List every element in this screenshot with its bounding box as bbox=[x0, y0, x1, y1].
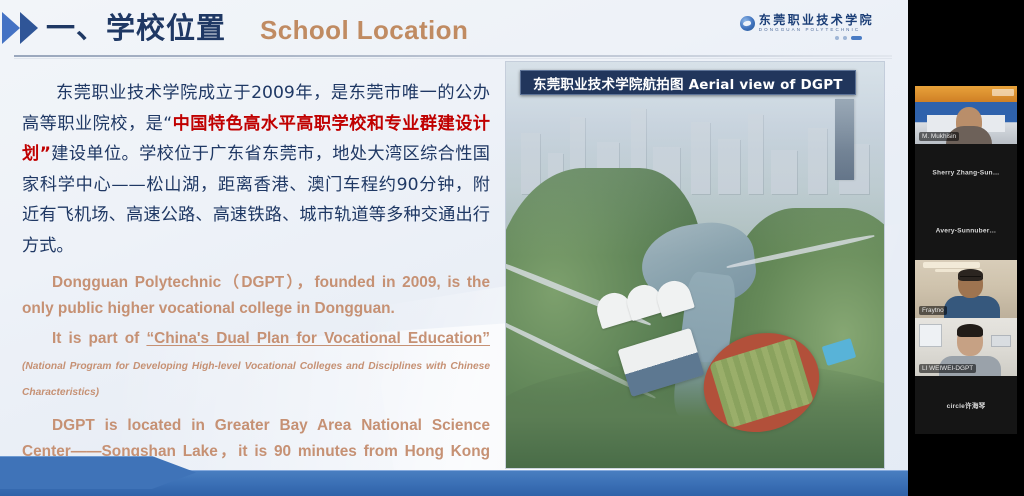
participant-3-scene-light-1 bbox=[923, 262, 980, 267]
slide-header: 一、学校位置 School Location 东莞职业技术学院 DONGGUAN… bbox=[0, 0, 908, 57]
participant-tile-4[interactable]: LI WEIWEI-DGPT bbox=[915, 318, 1017, 376]
page-title-english: School Location bbox=[260, 13, 468, 47]
participant-4-scene-board bbox=[919, 324, 941, 347]
cn-text-part2: 建设单位。学校位于广东省东莞市，地处大湾区综合性国家科学中心——松山湖，距离香港… bbox=[22, 144, 490, 256]
participant-tile-2[interactable]: Avery-Sunnuber… bbox=[915, 202, 1017, 260]
participant-0-scene-logo bbox=[992, 89, 1014, 96]
en-program-note: (National Program for Developing High-le… bbox=[22, 361, 490, 398]
participant-0-name: M. Mukhisin bbox=[919, 132, 959, 141]
en-program-link: “China's Dual Plan for Vocational Educat… bbox=[146, 330, 490, 347]
screen: 一、学校位置 School Location 东莞职业技术学院 DONGGUAN… bbox=[0, 0, 1024, 496]
participant-4-scene-board-2 bbox=[991, 335, 1011, 347]
participant-3-avatar-body bbox=[944, 296, 1000, 318]
participant-1-name: Sherry Zhang-Sun… bbox=[915, 170, 1017, 177]
participant-4-avatar-hair bbox=[957, 324, 983, 337]
participant-tile-strip[interactable]: M. Mukhisin Sherry Zhang-Sun… Avery-Sunn… bbox=[915, 86, 1017, 434]
header-divider bbox=[14, 55, 892, 57]
photo-high-rise-tower bbox=[835, 99, 854, 180]
photo-sports-field bbox=[709, 337, 814, 428]
participant-tile-0[interactable]: M. Mukhisin bbox=[915, 86, 1017, 144]
en-text-pre: It is part of bbox=[52, 330, 146, 347]
participant-5-name: circle许海琴 bbox=[915, 400, 1017, 410]
paragraph-chinese: 东莞职业技术学院成立于2009年，是东莞市唯一的公办高等职业院校，是“中国特色高… bbox=[22, 78, 490, 261]
participant-2-name: Avery-Sunnuber… bbox=[915, 228, 1017, 235]
presentation-slide: 一、学校位置 School Location 东莞职业技术学院 DONGGUAN… bbox=[0, 0, 908, 496]
logo-name-chinese: 东莞职业技术学院 bbox=[759, 14, 874, 26]
paragraph-english-1: Dongguan Polytechnic（DGPT），founded in 20… bbox=[22, 270, 490, 322]
paragraph-english-2: It is part of “China's Dual Plan for Voc… bbox=[22, 326, 490, 404]
logo-dots-decoration bbox=[835, 36, 862, 40]
participant-tile-1[interactable]: Sherry Zhang-Sun… bbox=[915, 144, 1017, 202]
page-title-chinese: 一、学校位置 bbox=[46, 8, 226, 48]
participant-tile-3[interactable]: Fraytno bbox=[915, 260, 1017, 318]
cn-quote-open: “ bbox=[163, 114, 172, 134]
header-divider-thin bbox=[14, 58, 892, 59]
photo-caption-banner: 东莞职业技术学院航拍图 Aerial view of DGPT bbox=[520, 70, 856, 95]
photo-trees-bottom bbox=[506, 362, 884, 468]
logo-name-english: DONGGUAN POLYTECHNIC bbox=[759, 28, 874, 33]
logo-emblem-icon bbox=[740, 16, 755, 31]
aerial-campus-photo: 东莞职业技术学院航拍图 Aerial view of DGPT bbox=[506, 62, 884, 468]
slide-text-column: 东莞职业技术学院成立于2009年，是东莞市唯一的公办高等职业院校，是“中国特色高… bbox=[22, 78, 490, 491]
double-chevron-icon bbox=[2, 12, 46, 44]
participant-4-name: LI WEIWEI-DGPT bbox=[919, 364, 976, 373]
video-participant-panel[interactable]: M. Mukhisin Sherry Zhang-Sun… Avery-Sunn… bbox=[908, 0, 1024, 496]
photo-caption-text: 东莞职业技术学院航拍图 Aerial view of DGPT bbox=[533, 73, 843, 93]
participant-3-avatar-glasses bbox=[960, 276, 981, 281]
participant-tile-5[interactable]: circle许海琴 bbox=[915, 376, 1017, 434]
participant-3-name: Fraytno bbox=[919, 306, 947, 315]
university-logo: 东莞职业技术学院 DONGGUAN POLYTECHNIC bbox=[740, 14, 874, 33]
cn-quote-close: ” bbox=[40, 144, 51, 164]
